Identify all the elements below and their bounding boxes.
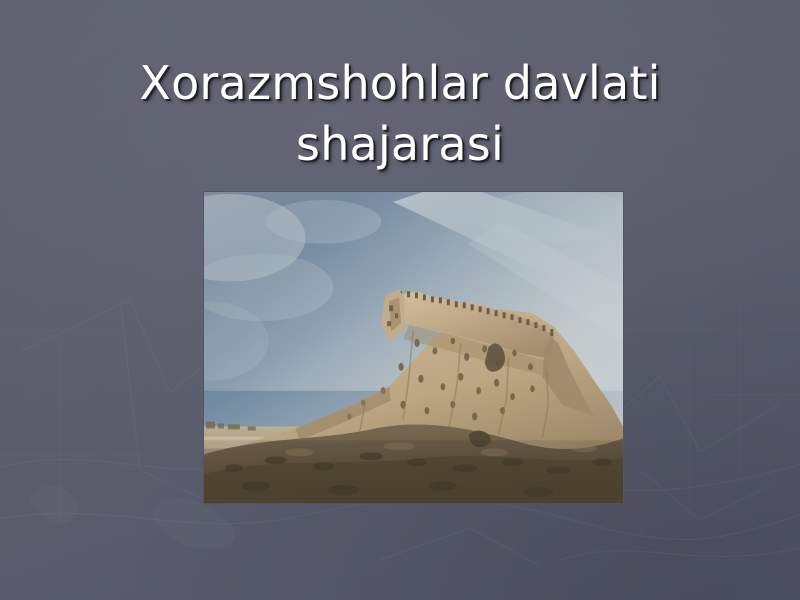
khorezm-fortress-photo [204, 192, 623, 503]
slide-title: Xorazmshohlar davlati shajarasi [40, 53, 760, 176]
presentation-slide: Xorazmshohlar davlati shajarasi [0, 0, 800, 600]
slide-image-frame[interactable] [203, 191, 624, 504]
